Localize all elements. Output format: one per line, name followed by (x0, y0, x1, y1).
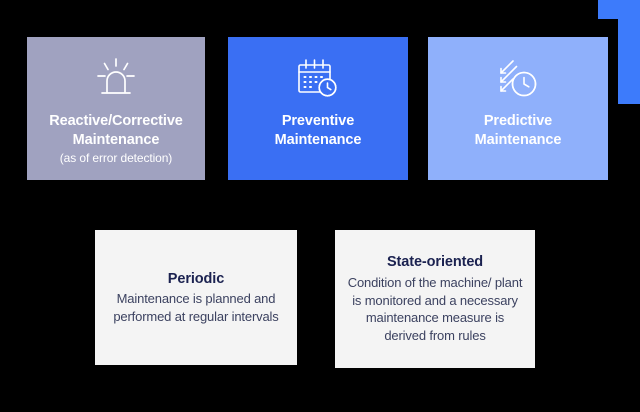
card-periodic[interactable]: Periodic Maintenance is planned and perf… (95, 230, 297, 365)
card-periodic-description: Maintenance is planned and performed at … (105, 290, 287, 325)
card-reactive-title-line2: Maintenance (73, 132, 160, 148)
card-reactive-title: Reactive/Corrective Maintenance (35, 112, 197, 150)
alarm-light-icon (90, 54, 142, 104)
calendar-clock-icon (292, 54, 344, 104)
card-preventive-text: Preventive Maintenance (228, 112, 408, 150)
card-state-oriented[interactable]: State-oriented Condition of the machine/… (335, 230, 535, 368)
card-predictive-title: Predictive Maintenance (436, 112, 600, 150)
card-preventive-title-line2: Maintenance (275, 132, 362, 148)
card-preventive-title-line1: Preventive (282, 113, 354, 129)
card-state-oriented-description: Condition of the machine/ plant is monit… (345, 274, 525, 344)
card-preventive-maintenance[interactable]: Preventive Maintenance (228, 37, 408, 180)
card-periodic-title: Periodic (168, 270, 224, 289)
card-predictive-title-line2: Maintenance (475, 132, 562, 148)
card-reactive-corrective-maintenance[interactable]: Reactive/Corrective Maintenance (as of e… (27, 37, 205, 180)
clock-trend-icon (492, 54, 544, 104)
card-predictive-maintenance[interactable]: Predictive Maintenance (428, 37, 608, 180)
card-reactive-title-line1: Reactive/Corrective (49, 113, 183, 129)
card-predictive-title-line1: Predictive (484, 113, 552, 129)
card-preventive-title: Preventive Maintenance (236, 112, 400, 150)
corner-accent-top-bar (598, 0, 640, 19)
card-reactive-subtitle: (as of error detection) (35, 151, 197, 167)
card-state-oriented-title: State-oriented (387, 253, 483, 272)
card-predictive-text: Predictive Maintenance (428, 112, 608, 150)
corner-accent-stem-bar (618, 19, 640, 104)
card-reactive-text: Reactive/Corrective Maintenance (as of e… (27, 112, 205, 167)
